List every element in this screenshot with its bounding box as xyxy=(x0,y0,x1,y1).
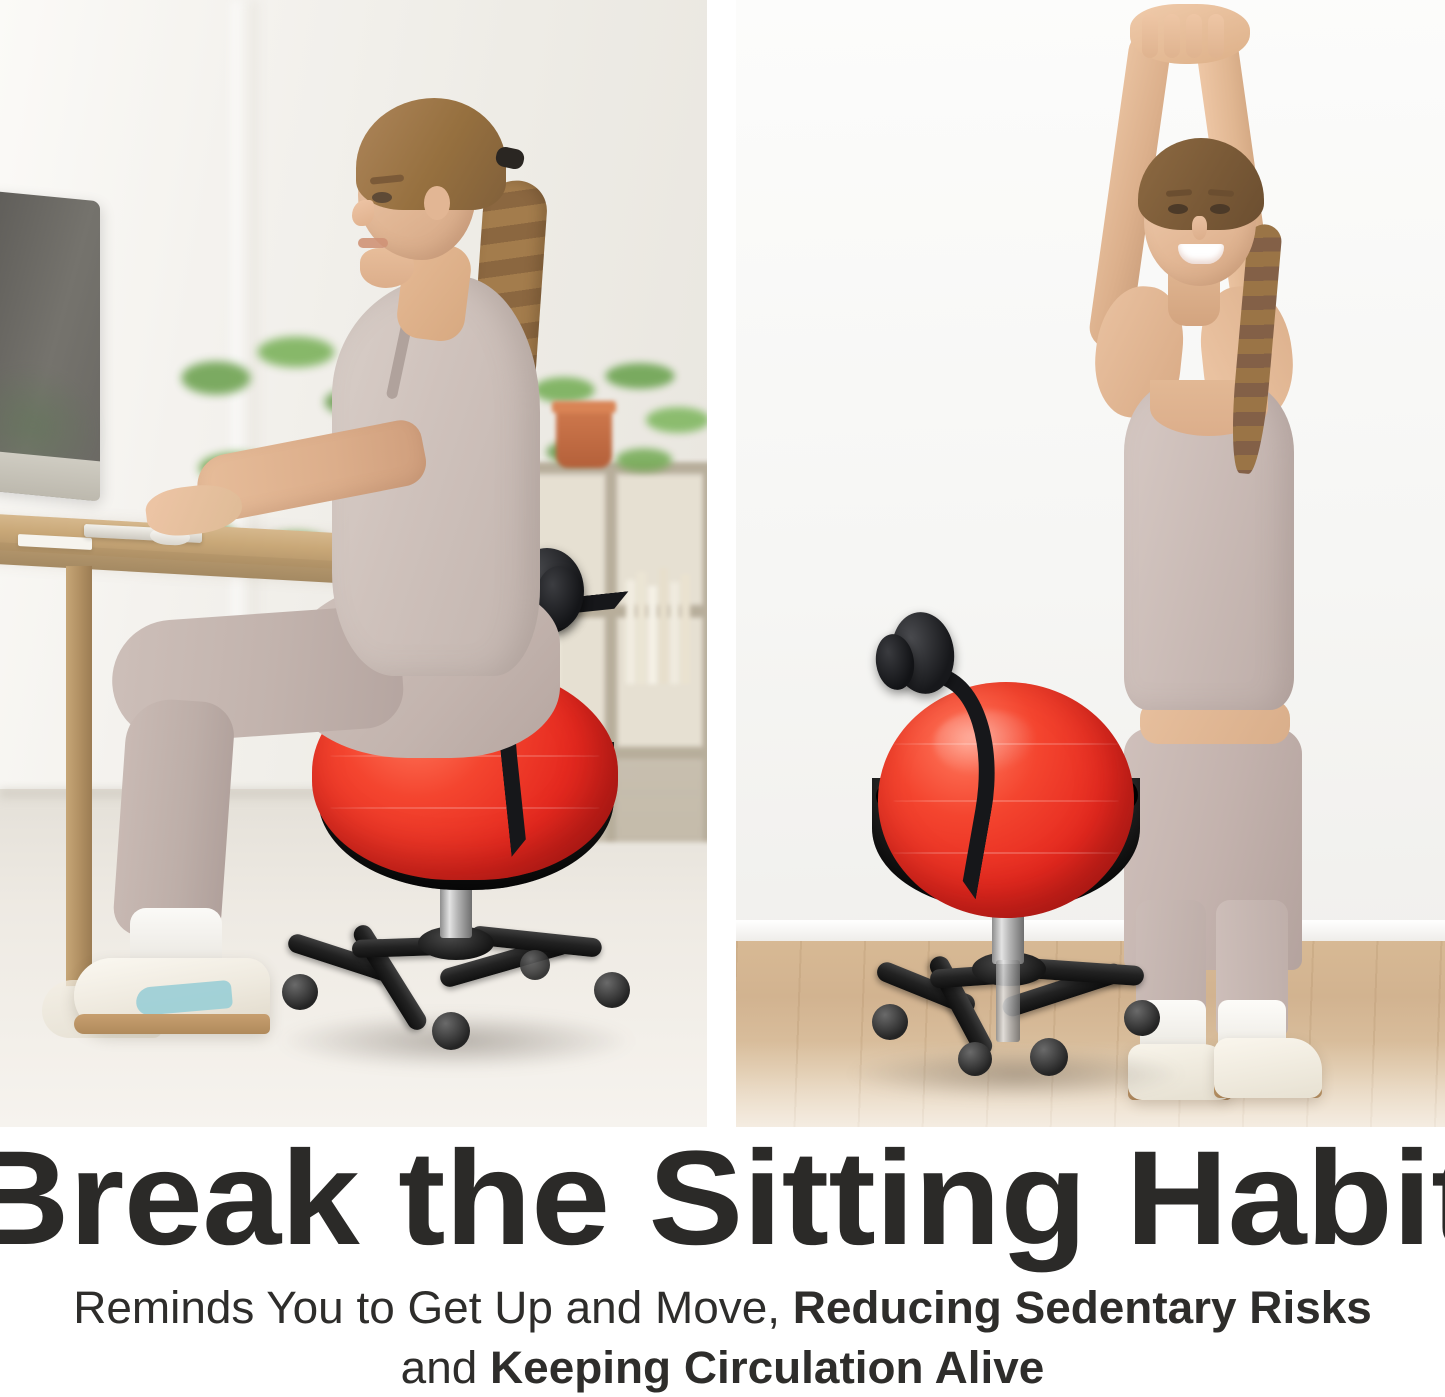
caster-wheel xyxy=(1124,1000,1160,1036)
photo-panel-right xyxy=(736,0,1445,1127)
headline: Break the Sitting Habit xyxy=(0,1132,1445,1266)
caster-wheel xyxy=(520,950,550,980)
subtitle-line-1-regular: Reminds You to Get Up and Move, xyxy=(73,1282,793,1333)
scene-studio xyxy=(736,0,1445,1127)
eye-right xyxy=(1210,204,1230,214)
text-block: Break the Sitting Habit Reminds You to G… xyxy=(0,1127,1445,1397)
subtitle-line-2-bold: Keeping Circulation Alive xyxy=(490,1342,1044,1393)
nose xyxy=(352,200,374,226)
nose xyxy=(1192,216,1207,240)
eye-left xyxy=(1168,204,1188,214)
subtitle-line-1: Reminds You to Get Up and Move, Reducing… xyxy=(0,1285,1445,1330)
desk-leg xyxy=(66,566,92,986)
scene-home-office xyxy=(0,0,707,1127)
lips xyxy=(358,238,388,248)
plant-secondary xyxy=(520,348,707,518)
sneaker-sole xyxy=(74,1014,270,1034)
ear xyxy=(424,186,450,220)
caster-wheel xyxy=(282,974,318,1010)
caster-wheel xyxy=(1030,1038,1068,1076)
chair-floor-shadow xyxy=(846,1048,1186,1100)
subtitle-line-2: and Keeping Circulation Alive xyxy=(0,1345,1445,1390)
lower-leg xyxy=(112,697,236,942)
photo-row xyxy=(0,0,1445,1127)
caster-wheel xyxy=(594,972,630,1008)
product-marketing-poster: Break the Sitting Habit Reminds You to G… xyxy=(0,0,1445,1397)
hands-clasped-overhead xyxy=(1130,4,1250,64)
caster-wheel xyxy=(958,1042,992,1076)
subtitle-line-2-regular: and xyxy=(401,1342,490,1393)
screen-reflection xyxy=(0,361,100,472)
caster-wheel xyxy=(872,1004,908,1040)
sneaker-right xyxy=(1214,1038,1322,1098)
computer-monitor xyxy=(0,191,100,502)
gas-cylinder-lower xyxy=(996,960,1020,1042)
photo-panel-left xyxy=(0,0,707,1127)
caster-wheel xyxy=(432,1012,470,1050)
eye xyxy=(372,192,392,203)
subtitle-line-1-bold: Reducing Sedentary Risks xyxy=(793,1282,1372,1333)
terracotta-pot xyxy=(556,406,612,468)
